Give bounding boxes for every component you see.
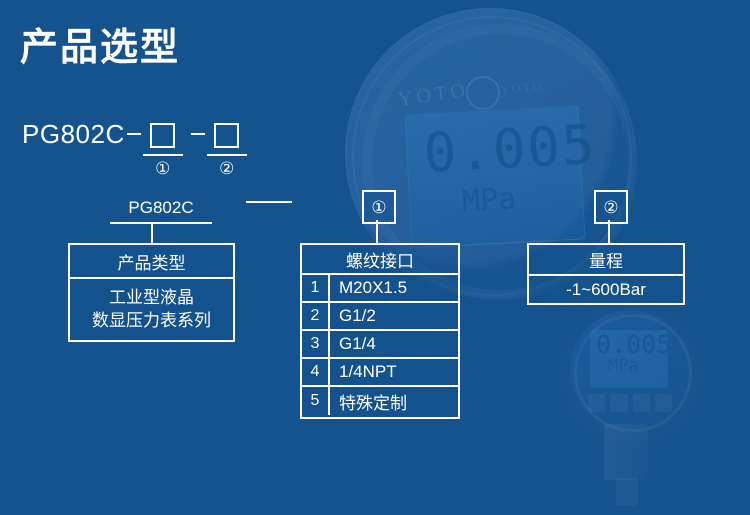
background-gauge-small [570, 310, 690, 430]
range-header: 量程 [529, 245, 683, 276]
product-selection-diagram: 0.005 MPa YOTO YOTO 0.005 MPa 产品选型 PG802… [0, 0, 750, 515]
background-gauge-large-brand-secondary: YOTO [499, 78, 544, 98]
thread-row-value: 特殊定制 [330, 387, 458, 415]
thread-interface-table: 螺纹接口 1 M20X1.5 2 G1/2 3 G1/4 4 1/4NPT 5 … [300, 243, 460, 419]
model-code-slot-2-underline [207, 154, 247, 156]
thread-row-value: G1/2 [330, 303, 458, 329]
model-code-base: PG802C [22, 119, 125, 149]
marker-one-box: ① [362, 190, 396, 224]
background-gauge-large-lcd [405, 106, 586, 249]
connector-root-to-marker-one [246, 201, 292, 203]
background-gauge-small-stem [604, 424, 648, 480]
table-row: 1 M20X1.5 [302, 275, 458, 303]
model-code-slot-2-marker: ② [219, 159, 234, 179]
thread-row-value: 1/4NPT [330, 359, 458, 385]
table-row: 2 G1/2 [302, 303, 458, 331]
table-row: 5 特殊定制 [302, 387, 458, 415]
product-type-line-1: 工业型液晶 [109, 287, 194, 309]
model-code-dash-1 [127, 133, 141, 135]
thread-row-value: G1/4 [330, 331, 458, 357]
thread-row-index: 4 [302, 359, 330, 385]
model-code-slot-1: ① [143, 119, 183, 179]
model-code-slot-1-underline [143, 154, 183, 156]
page-title: 产品选型 [20, 28, 180, 70]
background-gauge-small-unit: MPa [608, 356, 639, 376]
table-row: 4 1/4NPT [302, 359, 458, 387]
background-gauge-small-halo [556, 300, 706, 450]
thread-row-index: 1 [302, 275, 330, 301]
model-code: PG802C ① ② [22, 119, 247, 179]
range-card: 量程 -1~600Bar [527, 243, 685, 305]
background-gauge-large-brand: YOTO [397, 79, 471, 112]
range-value: -1~600Bar [529, 276, 683, 305]
background-gauge-small-ring [574, 314, 692, 432]
model-code-slot-1-box [150, 123, 175, 148]
background-gauge-small-reading: 0.005 [596, 330, 671, 359]
connector-root-to-product-type [151, 222, 153, 245]
model-code-slot-2-box [214, 123, 239, 148]
product-type-header: 产品类型 [70, 245, 233, 279]
background-gauge-small-buttons [588, 394, 672, 412]
product-type-card: 产品类型 工业型液晶 数显压力表系列 [68, 243, 235, 342]
thread-row-index: 2 [302, 303, 330, 329]
product-type-line-2: 数显压力表系列 [92, 310, 211, 332]
diagram-root-underline [110, 222, 212, 224]
diagram-root-label: PG802C [110, 198, 212, 218]
table-row: 3 G1/4 [302, 331, 458, 359]
connector-marker-one-to-table [376, 220, 378, 245]
marker-two-box: ② [594, 190, 628, 224]
model-code-dash-2 [191, 133, 205, 135]
background-gauge-small-thread [616, 478, 638, 506]
background-gauge-large-unit: MPa [461, 182, 517, 220]
thread-row-index: 5 [302, 387, 330, 415]
thread-row-value: M20X1.5 [330, 275, 458, 301]
thread-interface-header: 螺纹接口 [302, 245, 458, 275]
product-type-body: 工业型液晶 数显压力表系列 [70, 279, 233, 340]
background-gauge-large-logo-icon [466, 76, 500, 110]
thread-row-index: 3 [302, 331, 330, 357]
model-code-slot-2: ② [207, 119, 247, 179]
model-code-slot-1-marker: ① [155, 159, 170, 179]
background-gauge-small-lcd [590, 330, 668, 388]
connector-marker-two-to-range [608, 220, 610, 245]
background-gauge-large-reading: 0.005 [422, 114, 575, 192]
